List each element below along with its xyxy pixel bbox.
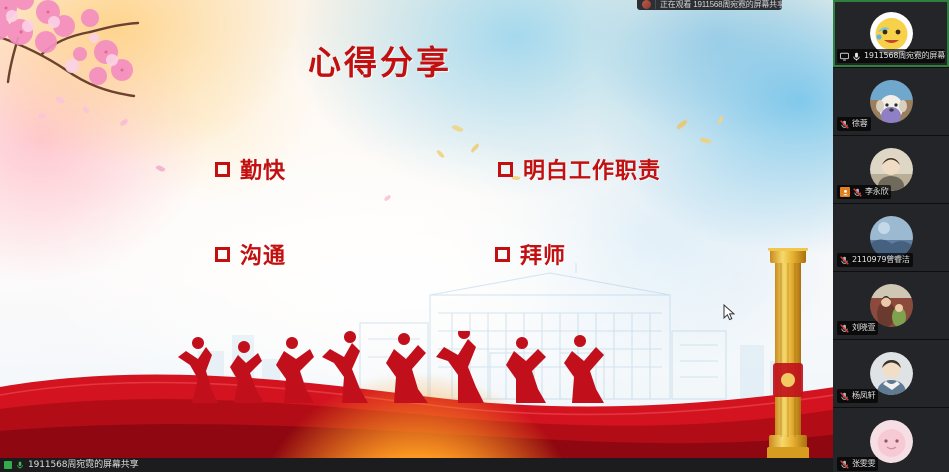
- share-status-bar[interactable]: 1911568周宛霓的屏幕共享: [0, 458, 833, 472]
- meeting-screen-share-window: 心得分享 勤快 明白工作职责 沟通 拜师: [0, 0, 949, 472]
- screen-share-icon: [4, 461, 12, 469]
- divider: [655, 0, 656, 9]
- microphone-muted-icon[interactable]: [840, 392, 849, 401]
- slide-bullet-label: 勤快: [240, 153, 286, 185]
- participant-name: 张雯雯: [852, 457, 875, 471]
- viewing-share-notice: 正在观看 1911568周宛霓的屏幕共享: [637, 0, 782, 10]
- slide-illustration-band: [0, 248, 833, 463]
- participant-name: 刘晓萱: [852, 321, 875, 335]
- participant-nameplate: 刘晓萱: [837, 321, 878, 335]
- screen-share-icon: [840, 52, 849, 61]
- participant-tile-screen-share[interactable]: 1911568周宛霓的屏幕共享: [833, 0, 949, 68]
- slide-bullet-label: 明白工作职责: [523, 153, 661, 185]
- participant-tile[interactable]: 杨凤轩: [833, 340, 949, 408]
- microphone-icon[interactable]: [852, 52, 861, 61]
- host-badge-icon: [840, 187, 850, 197]
- square-bullet-icon: [498, 162, 513, 177]
- participant-nameplate: 徐蓉: [837, 117, 871, 131]
- participant-tile[interactable]: 2110979曾睿洁: [833, 204, 949, 272]
- participant-tile[interactable]: 张雯雯: [833, 408, 949, 472]
- dancer-silhouettes-icon: [172, 331, 642, 405]
- participant-name: 2110979曾睿洁: [852, 253, 910, 267]
- participant-nameplate: 2110979曾睿洁: [837, 253, 913, 267]
- participant-name: 李永欣: [865, 185, 888, 199]
- square-bullet-icon: [215, 162, 230, 177]
- participant-tile[interactable]: 李永欣: [833, 136, 949, 204]
- microphone-muted-icon[interactable]: [840, 120, 849, 129]
- mouse-pointer-icon: [723, 304, 735, 322]
- microphone-muted-icon[interactable]: [840, 256, 849, 265]
- microphone-muted-icon[interactable]: [840, 460, 849, 469]
- participant-name: 1911568周宛霓的屏幕共享: [864, 49, 945, 63]
- gold-pillar-icon: [767, 248, 809, 463]
- slide-title: 心得分享: [0, 36, 760, 84]
- participant-nameplate: 李永欣: [837, 185, 891, 199]
- microphone-muted-icon[interactable]: [840, 324, 849, 333]
- participant-nameplate: 张雯雯: [837, 457, 878, 471]
- slide-bullet-item: 明白工作职责: [498, 153, 661, 185]
- participant-name: 徐蓉: [852, 117, 868, 131]
- shared-screen-slide[interactable]: 心得分享 勤快 明白工作职责 沟通 拜师: [0, 0, 833, 463]
- microphone-icon[interactable]: [16, 461, 24, 469]
- participant-nameplate: 1911568周宛霓的屏幕共享: [837, 49, 945, 63]
- participant-avatar-icon: [642, 0, 651, 9]
- participant-nameplate: 杨凤轩: [837, 389, 878, 403]
- share-status-label: 1911568周宛霓的屏幕共享: [28, 458, 139, 472]
- participant-rail[interactable]: 1911568周宛霓的屏幕共享: [833, 0, 949, 472]
- participant-tile[interactable]: 徐蓉: [833, 68, 949, 136]
- dog-photo-avatar-icon: [870, 80, 913, 123]
- microphone-muted-icon[interactable]: [853, 188, 862, 197]
- slide-bullet-item: 勤快: [215, 153, 286, 185]
- participant-tile[interactable]: 刘晓萱: [833, 272, 949, 340]
- viewing-share-label: 正在观看 1911568周宛霓的屏幕共享: [660, 0, 782, 9]
- participant-name: 杨凤轩: [852, 389, 875, 403]
